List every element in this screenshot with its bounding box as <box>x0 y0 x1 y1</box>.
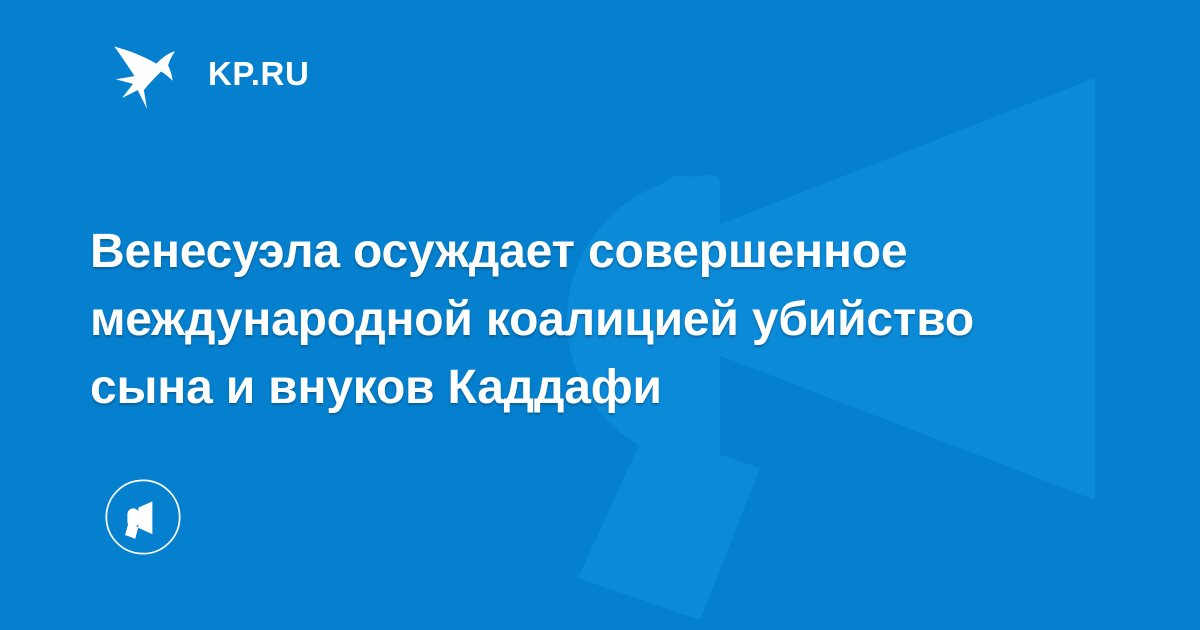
brand-logo-block[interactable]: KP.RU <box>108 34 309 112</box>
social-share-card: KP.RU Венесуэла осуждает совершенное меж… <box>0 0 1200 630</box>
brand-name: KP.RU <box>208 57 309 90</box>
swallow-bird-icon <box>108 34 186 112</box>
megaphone-icon <box>104 478 182 556</box>
page-title: Венесуэла осуждает совершенное междунаро… <box>90 218 1100 422</box>
status-badge[interactable] <box>104 478 182 556</box>
